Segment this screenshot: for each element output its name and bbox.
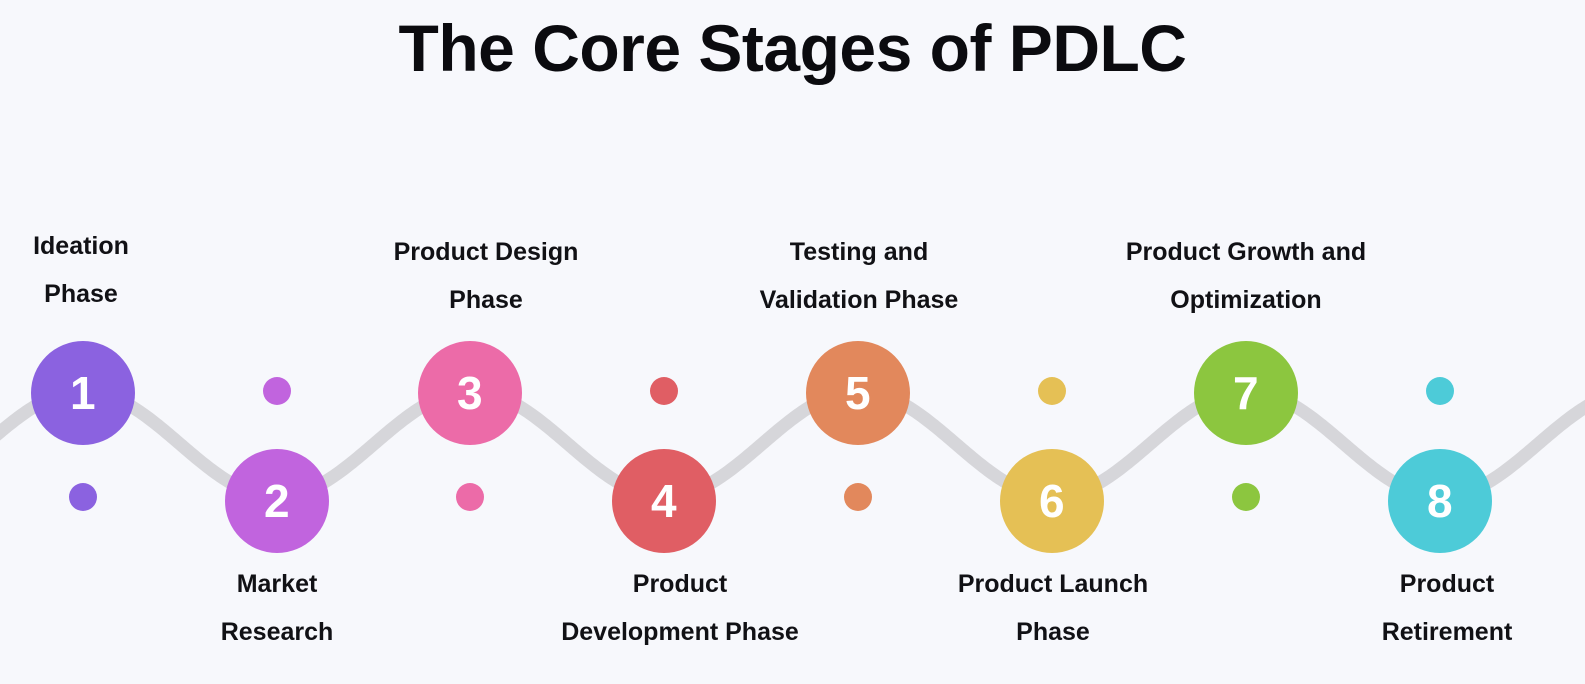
stage-dot-2[interactable] [263, 377, 291, 405]
stage-label-8: ProductRetirement [1167, 560, 1585, 656]
stage-label-line1-8: Product [1167, 560, 1585, 608]
stage-circle-8[interactable]: 8 [1388, 449, 1492, 553]
stage-label-line2-7: Optimization [966, 276, 1526, 324]
stage-circle-7[interactable]: 7 [1194, 341, 1298, 445]
stage-number-5: 5 [845, 370, 871, 416]
page-title: The Core Stages of PDLC [0, 6, 1585, 90]
stage-circle-2[interactable]: 2 [225, 449, 329, 553]
stage-label-line2-8: Retirement [1167, 608, 1585, 656]
stage-number-4: 4 [651, 478, 677, 524]
stage-number-7: 7 [1233, 370, 1259, 416]
stage-dot-5[interactable] [844, 483, 872, 511]
stage-number-6: 6 [1039, 478, 1065, 524]
stage-number-1: 1 [70, 370, 96, 416]
stage-circle-6[interactable]: 6 [1000, 449, 1104, 553]
stage-dot-6[interactable] [1038, 377, 1066, 405]
stage-dot-8[interactable] [1426, 377, 1454, 405]
stage-dot-1[interactable] [69, 483, 97, 511]
infographic-canvas: The Core Stages of PDLC 1IdeationPhase2M… [0, 0, 1585, 684]
stage-number-8: 8 [1427, 478, 1453, 524]
stage-number-3: 3 [457, 370, 483, 416]
stage-circle-5[interactable]: 5 [806, 341, 910, 445]
stage-number-2: 2 [264, 478, 290, 524]
stage-circle-4[interactable]: 4 [612, 449, 716, 553]
stage-label-7: Product Growth andOptimization [966, 228, 1526, 324]
stage-circle-3[interactable]: 3 [418, 341, 522, 445]
stage-label-line1-7: Product Growth and [966, 228, 1526, 276]
stage-circle-1[interactable]: 1 [31, 341, 135, 445]
wave-connector-line [0, 330, 1585, 580]
stage-dot-3[interactable] [456, 483, 484, 511]
stage-dot-7[interactable] [1232, 483, 1260, 511]
stage-dot-4[interactable] [650, 377, 678, 405]
